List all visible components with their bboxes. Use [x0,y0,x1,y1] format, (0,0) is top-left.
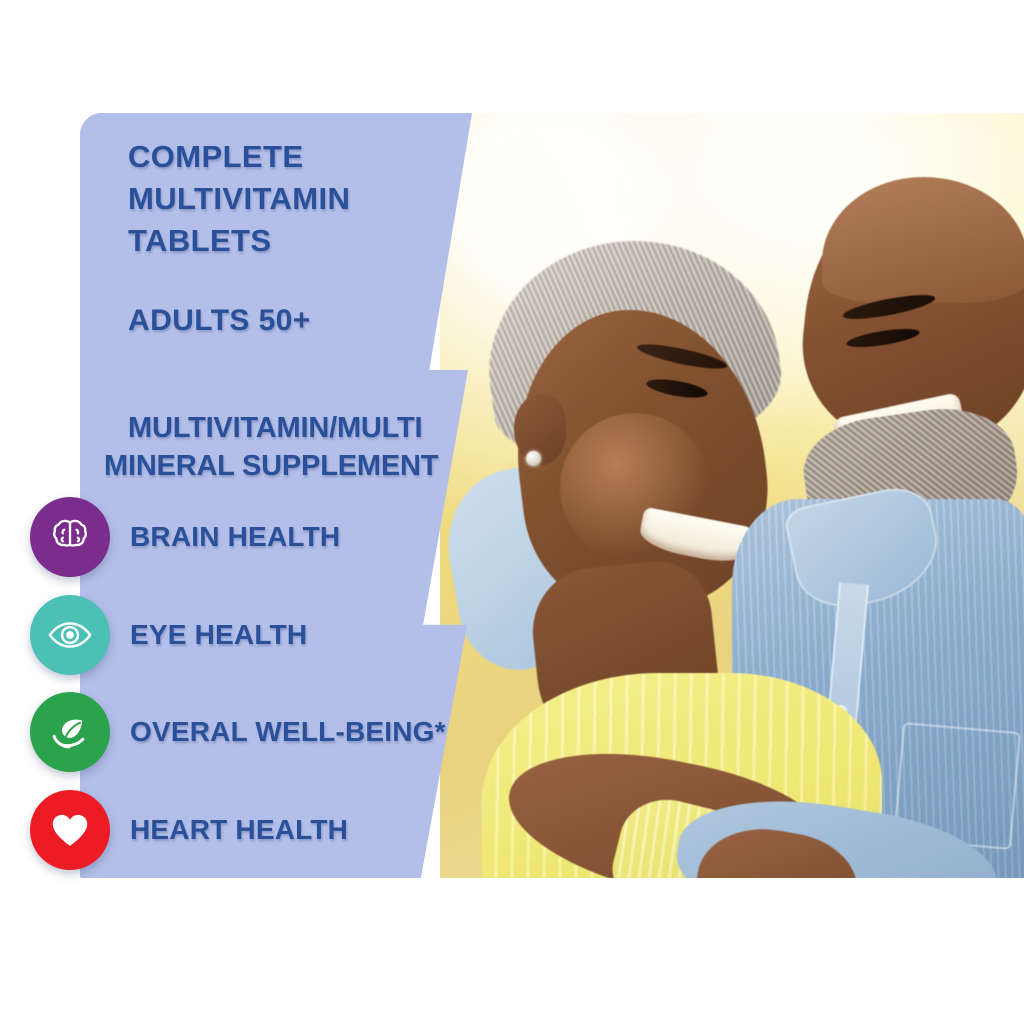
benefit-row-overall-wellbeing: OVERAL WELL-BEING* [30,692,490,772]
supplement-type-line-2: MINERAL SUPPLEMENT [104,448,488,486]
hand-leaf-icon-badge [30,692,110,772]
audience-label: ADULTS 50+ [128,304,478,338]
lifestyle-photo [440,113,1024,878]
benefit-row-brain-health: BRAIN HEALTH [30,497,490,577]
product-marketing-graphic: COMPLETE MULTIVITAMIN TABLETS ADULTS 50+… [0,0,1024,1024]
benefit-row-heart-health: HEART HEALTH [30,790,490,870]
headline-line-1: COMPLETE [128,136,478,178]
woman-earring [526,451,541,466]
man-scalp [822,177,1024,303]
brain-icon-badge [30,497,110,577]
benefit-label: HEART HEALTH [130,814,348,846]
benefit-label: OVERAL WELL-BEING* [130,716,446,748]
benefit-label: BRAIN HEALTH [130,521,340,553]
headline-line-3: TABLETS [128,220,478,262]
benefit-label: EYE HEALTH [130,619,307,651]
eye-icon-badge [30,595,110,675]
heart-icon-badge [30,790,110,870]
headline-block: COMPLETE MULTIVITAMIN TABLETS ADULTS 50+ [128,136,478,338]
supplement-type-line-1: MULTIVITAMIN/MULTI [128,410,488,448]
supplement-type-label: MULTIVITAMIN/MULTI MINERAL SUPPLEMENT [128,410,488,485]
benefit-row-eye-health: EYE HEALTH [30,595,490,675]
headline-line-2: MULTIVITAMIN [128,178,478,220]
